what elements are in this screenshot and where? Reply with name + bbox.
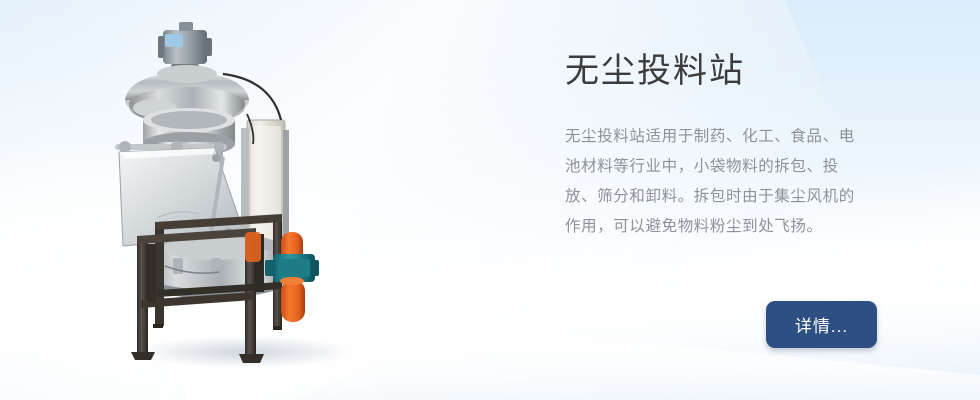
description-line-2: 池材料等行业中，小袋物料的拆包、投 xyxy=(565,152,857,182)
product-hero-banner: 无尘投料站 无尘投料站适用于制药、化工、食品、电 池材料等行业中，小袋物料的拆包… xyxy=(0,0,980,400)
secondary-orange-part xyxy=(245,232,261,262)
description-line-1: 无尘投料站适用于制药、化工、食品、电 xyxy=(565,122,857,152)
product-image xyxy=(95,8,395,368)
page-title: 无尘投料站 xyxy=(565,48,925,94)
description-line-3: 放、筛分和卸料。拆包时由于集尘风机的 xyxy=(565,182,857,212)
hero-copy: 无尘投料站 无尘投料站适用于制药、化工、食品、电 池材料等行业中，小袋物料的拆包… xyxy=(565,48,925,242)
details-button[interactable]: 详情... xyxy=(766,301,877,348)
description-line-4: 作用，可以避免物料粉尘到处飞扬。 xyxy=(565,212,857,242)
product-description: 无尘投料站适用于制药、化工、食品、电 池材料等行业中，小袋物料的拆包、投 放、筛… xyxy=(565,122,857,242)
